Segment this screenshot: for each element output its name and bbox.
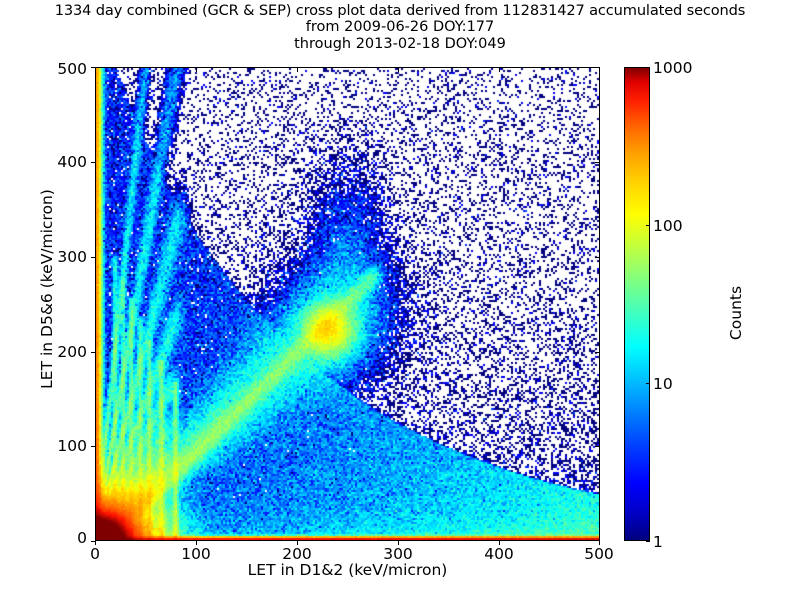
ytick-200: [91, 352, 95, 353]
y-axis-label: LET in D5&6 (keV/micron): [38, 139, 56, 439]
title-line-3: through 2013-02-18 DOY:049: [0, 36, 800, 53]
figure-canvas: 1334 day combined (GCR & SEP) cross plot…: [0, 0, 800, 600]
cbticklabel-10: 10: [653, 375, 673, 393]
scatter-heatmap-canvas: [96, 68, 599, 540]
ytick-right-300: [595, 257, 599, 258]
ytick-500: [91, 67, 95, 68]
chart-title: 1334 day combined (GCR & SEP) cross plot…: [0, 2, 800, 53]
title-line-1: 1334 day combined (GCR & SEP) cross plot…: [0, 2, 800, 19]
colorbar-gradient: [624, 67, 650, 541]
title-line-2: from 2009-06-26 DOY:177: [0, 19, 800, 36]
xtick-top-400: [499, 68, 500, 72]
cbticklabel-100: 100: [653, 217, 683, 235]
plot-area: [95, 67, 600, 541]
x-axis-label: LET in D1&2 (keV/micron): [95, 561, 600, 579]
xtick-top-100: [196, 68, 197, 72]
cbtick-1000: [646, 67, 650, 68]
ytick-right-100: [595, 446, 599, 447]
cbtick-10: [646, 383, 650, 384]
yticklabel-500: 500: [33, 60, 87, 78]
yticklabel-0: 0: [33, 529, 87, 547]
cbticklabel-1: 1: [653, 533, 663, 551]
cbticklabel-1000: 1000: [653, 59, 692, 77]
ytick-right-400: [595, 162, 599, 163]
colorbar-label: Counts: [727, 213, 745, 413]
cbtick-100: [646, 225, 650, 226]
ytick-right-200: [595, 352, 599, 353]
yticklabel-100: 100: [33, 437, 87, 455]
ytick-300: [91, 257, 95, 258]
xtick-top-200: [297, 68, 298, 72]
ytick-0: [91, 541, 95, 542]
xtick-top-300: [398, 68, 399, 72]
cbtick-1: [646, 541, 650, 542]
ytick-400: [91, 162, 95, 163]
ytick-100: [91, 446, 95, 447]
